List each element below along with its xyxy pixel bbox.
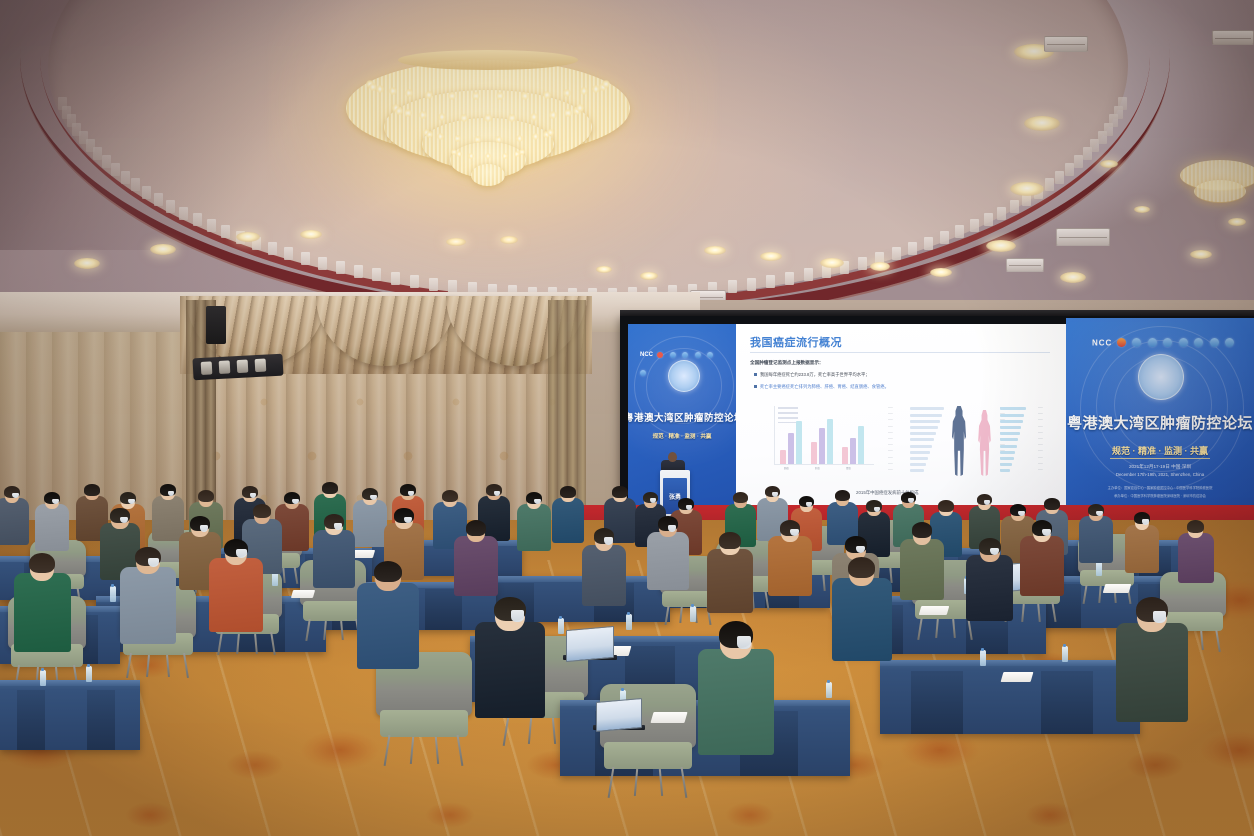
face-mask (148, 558, 159, 567)
table-surface (880, 660, 1140, 666)
attendee-torso (357, 583, 419, 669)
chair-leg (607, 767, 614, 798)
chair-leg (146, 655, 150, 677)
attendee-hair (29, 553, 55, 573)
chair-leg (1200, 631, 1204, 650)
attendee (35, 492, 69, 554)
attendee (647, 516, 689, 594)
attendee (768, 520, 811, 600)
water-bottle (826, 682, 832, 698)
conference-hall-photo: NCC 粤港澳大湾区肿瘤防控论坛 规范 · 精准 · 监测 · 共赢 我国癌症流… (0, 0, 1254, 836)
chair-leg (658, 769, 662, 796)
face-mask (1153, 611, 1167, 623)
attendee-hair (198, 490, 214, 502)
attendee-hair (374, 561, 402, 583)
chair-leg (456, 735, 463, 766)
attendee-torso (1079, 516, 1113, 562)
chair-leg (340, 621, 344, 640)
table-drape (87, 690, 115, 750)
attendee-hair (84, 484, 100, 495)
attendee-hair (612, 486, 628, 497)
attendee-hair (322, 482, 338, 493)
water-bottle (86, 666, 92, 682)
attendee-hair (1044, 498, 1060, 509)
table-surface (0, 680, 140, 686)
attendee-torso (14, 573, 71, 652)
attendee-torso (832, 578, 892, 661)
attendee-torso (768, 536, 811, 596)
bottle-cap (559, 616, 562, 619)
document-paper (1001, 672, 1034, 682)
attendee-torso (35, 504, 69, 550)
attendee-torso (707, 549, 753, 613)
attendee (1178, 520, 1214, 586)
document-paper (650, 712, 687, 723)
chair-leg (633, 769, 637, 796)
document-paper (1103, 584, 1132, 593)
attendee-torso (647, 532, 689, 591)
document-paper (291, 590, 315, 598)
attendee (475, 596, 544, 724)
seating-area (0, 0, 1254, 836)
attendee-torso (582, 545, 627, 607)
attendee-torso (517, 504, 551, 550)
chair-leg (679, 607, 682, 623)
attendee-torso (900, 539, 945, 601)
attendee (517, 492, 551, 554)
attendee (313, 514, 355, 592)
chair-leg (126, 653, 132, 678)
chair-leg (270, 632, 276, 655)
face-mask (604, 537, 613, 544)
attendee (698, 620, 775, 761)
attendee (582, 528, 627, 610)
attendee (353, 488, 387, 550)
table-drape (911, 671, 963, 734)
table (0, 680, 140, 750)
attendee-torso (1178, 533, 1214, 583)
attendee-hair (733, 492, 748, 503)
attendee (966, 538, 1013, 625)
attendee-torso (120, 567, 176, 644)
attendee-hair (835, 490, 850, 501)
laptop-screen[interactable] (566, 626, 614, 662)
water-bottle (626, 614, 632, 630)
attendee-hair (938, 500, 954, 511)
attendee (707, 532, 753, 616)
attendee (900, 522, 945, 604)
attendee-torso (209, 558, 262, 632)
water-bottle (558, 618, 564, 634)
table-drape (17, 690, 45, 750)
bottle-cap (621, 688, 624, 691)
attendee (1125, 512, 1160, 576)
chair-leg (383, 735, 390, 766)
chair-leg (680, 767, 687, 798)
bottle-cap (111, 584, 114, 587)
attendee (0, 486, 29, 548)
water-bottle (1062, 646, 1068, 662)
attendee-torso (1116, 623, 1188, 723)
attendee (1116, 596, 1188, 728)
face-mask (1142, 519, 1149, 525)
attendee-torso (454, 536, 497, 596)
attendee (209, 538, 262, 636)
attendee-torso (1125, 525, 1160, 573)
chair-leg (282, 568, 285, 583)
attendee-hair (1187, 520, 1204, 533)
face-mask (236, 549, 246, 558)
chair-leg (166, 655, 170, 677)
bottle-cap (627, 612, 630, 615)
bottle-cap (691, 604, 694, 607)
attendee-torso (313, 530, 355, 589)
attendee (14, 552, 71, 657)
chair-seat (303, 601, 364, 620)
bottle-cap (41, 668, 44, 671)
chair-seat (380, 710, 468, 737)
attendee (454, 520, 497, 600)
chair-leg (952, 619, 956, 638)
attendee-hair (442, 490, 458, 502)
attendee (552, 486, 584, 545)
attendee-hair (719, 532, 740, 548)
attendee (832, 556, 892, 665)
attendee-hair (466, 520, 486, 535)
table-drape (1041, 671, 1093, 734)
attendee-torso (0, 498, 29, 544)
attendee (357, 560, 419, 674)
attendee-torso (475, 622, 544, 718)
document-paper (919, 606, 950, 615)
attendee-torso (353, 500, 387, 546)
bottle-cap (827, 680, 830, 683)
face-mask (737, 636, 752, 649)
chair-leg (255, 634, 259, 654)
attendee-hair (560, 486, 576, 497)
bottle-cap (981, 648, 984, 651)
attendee-torso (1020, 536, 1063, 596)
water-bottle (690, 606, 696, 622)
chair-leg (552, 718, 556, 744)
water-bottle (980, 650, 986, 666)
attendee (1079, 504, 1113, 566)
bottle-cap (87, 664, 90, 667)
water-bottle (40, 670, 46, 686)
attendee-hair (848, 557, 875, 578)
chair-leg (323, 621, 327, 640)
laptop-screen[interactable] (596, 698, 642, 732)
face-mask (511, 610, 524, 621)
chair-leg (409, 737, 413, 764)
chair-leg (434, 737, 438, 764)
chair-leg (183, 653, 189, 678)
attendee-hair (253, 504, 272, 518)
attendee (1020, 520, 1063, 600)
chair-seat (604, 742, 692, 769)
table-surface (470, 576, 670, 582)
chair-leg (1215, 630, 1220, 652)
bottle-cap (1063, 644, 1066, 647)
attendee-torso (966, 555, 1013, 620)
attendee-torso (698, 649, 775, 756)
attendee-torso (552, 498, 584, 543)
water-bottle (110, 586, 116, 602)
attendee (120, 546, 176, 649)
attendee-hair (912, 522, 933, 538)
